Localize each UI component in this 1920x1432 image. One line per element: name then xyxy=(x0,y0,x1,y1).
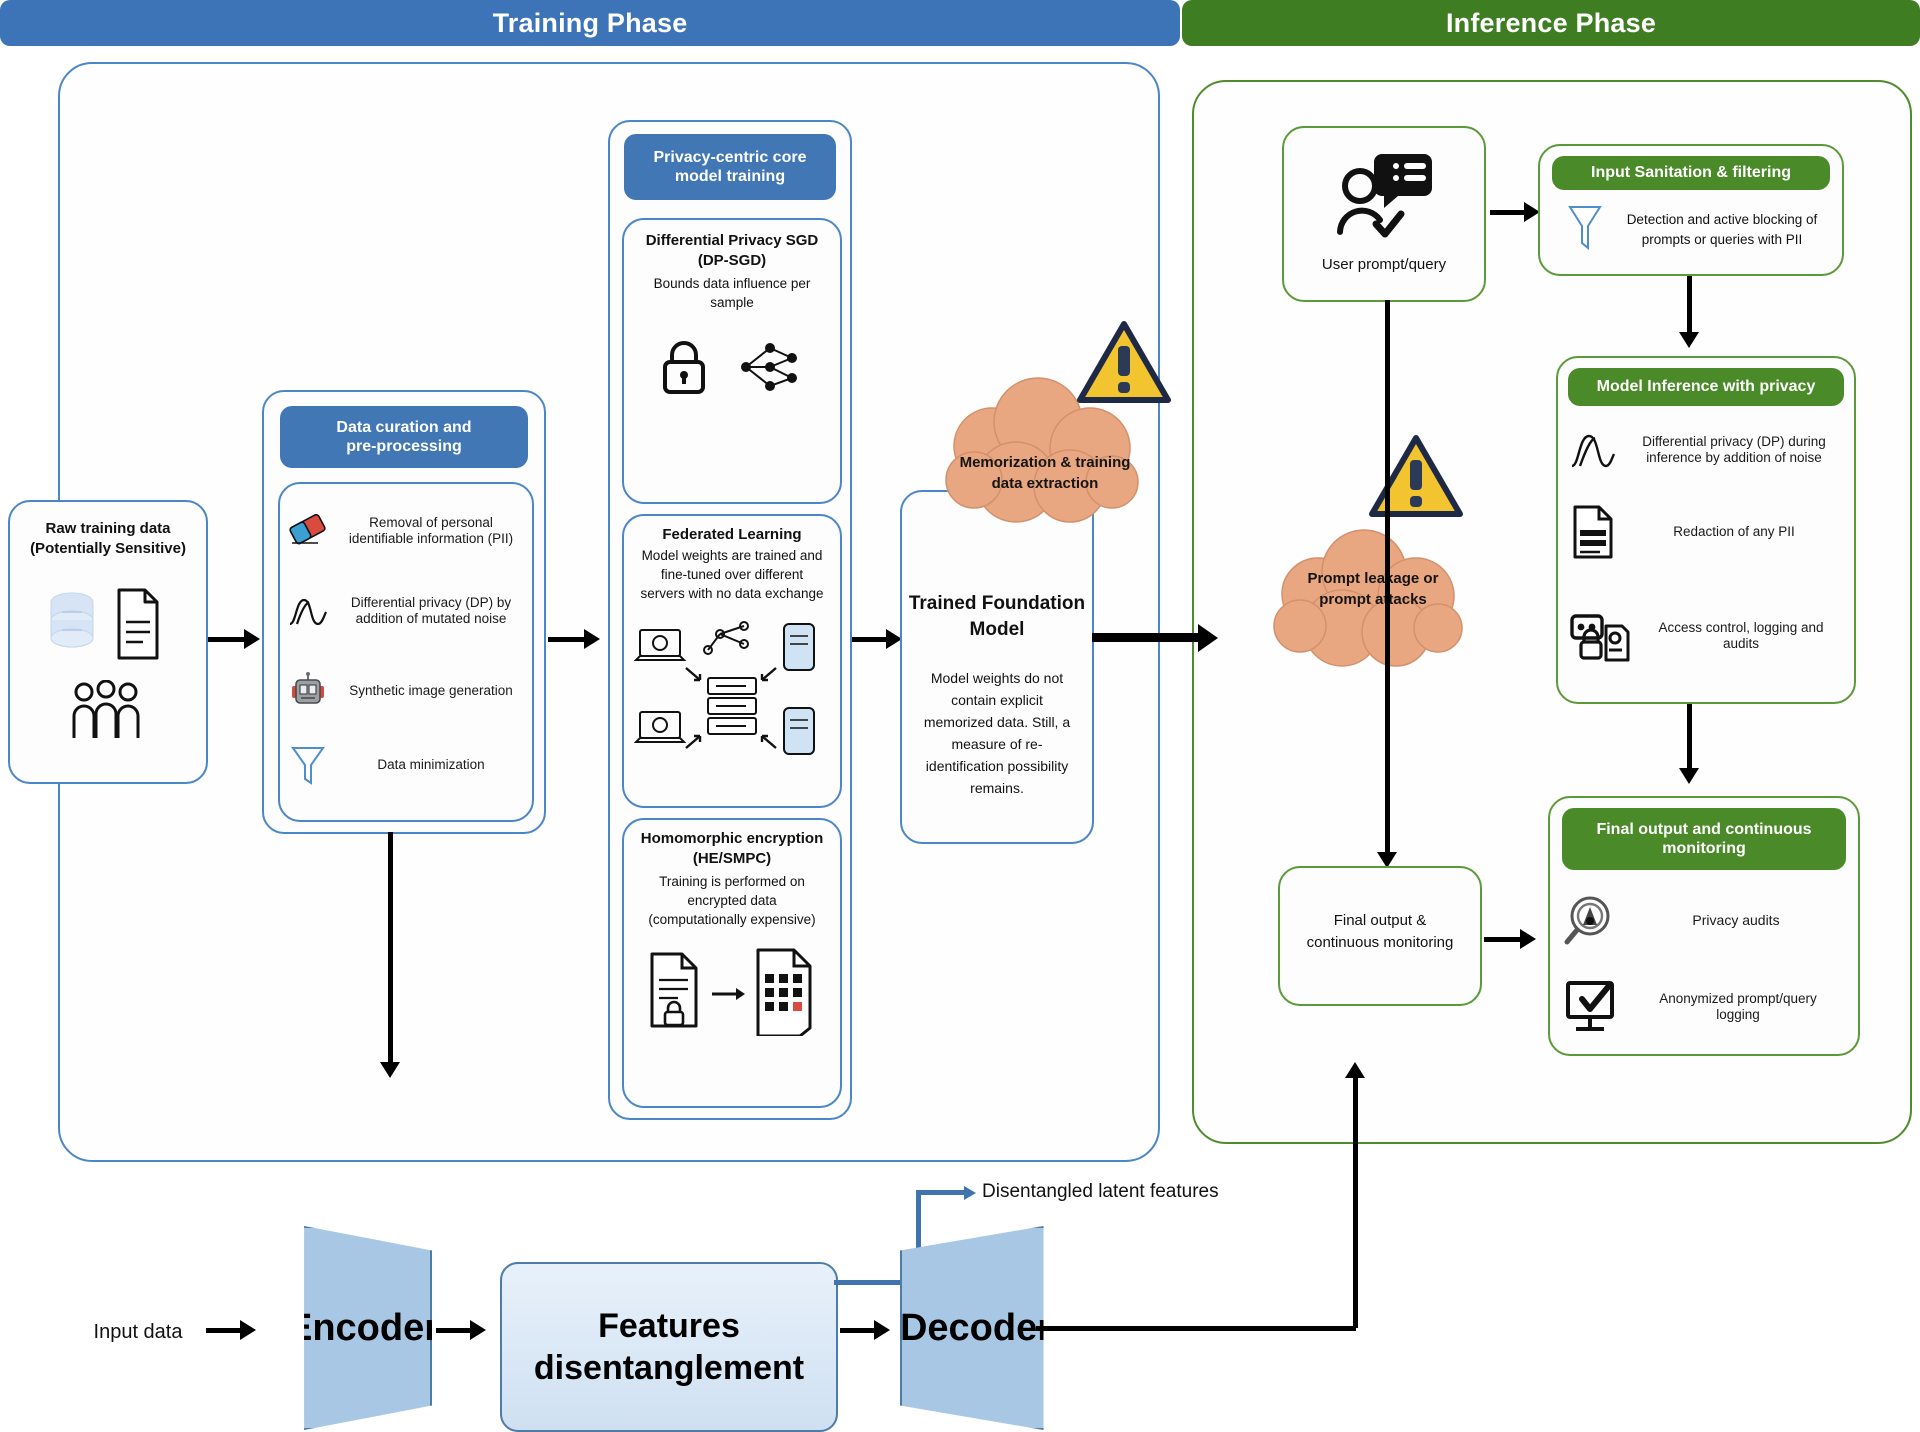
arrow-rawdata-to-curation-head xyxy=(244,629,260,649)
arrow-prompt-to-final-node xyxy=(1385,300,1390,852)
federated-diagram xyxy=(634,616,830,796)
inference-item-dp-line2: inference by addition of noise xyxy=(1626,450,1842,466)
arrow-encoder-to-features xyxy=(436,1328,470,1333)
arrow-encrypt-icon xyxy=(712,986,746,1007)
data-curation-pill: Data curation and pre-processing xyxy=(280,406,528,468)
final-output-node-line2: continuous monitoring xyxy=(1280,934,1480,952)
raw-data-title-line1: Raw training data xyxy=(10,520,206,538)
homomorphic-desc-line1: Training is performed on xyxy=(624,874,840,890)
final-output-node-card: Final output & continuous monitoring xyxy=(1278,866,1482,1006)
foundation-title-line2: Model xyxy=(902,618,1092,641)
inference-item-redaction-line1: Redaction of any PII xyxy=(1626,524,1842,540)
federated-title: Federated Learning xyxy=(624,526,840,544)
curation-item-minimization-label: Data minimization xyxy=(338,757,524,773)
encoder-block: Encoder xyxy=(268,1226,432,1430)
arrow-encoder-to-features-head xyxy=(470,1320,486,1340)
database-icon xyxy=(48,590,96,667)
dpsgd-title-line1: Differential Privacy SGD xyxy=(624,232,840,250)
final-output-panel-pill: Final output and continuous monitoring xyxy=(1562,808,1846,870)
inference-item-access-control: Access control, logging and audits xyxy=(1570,602,1842,670)
input-sanitation-desc-line1: Detection and active blocking of xyxy=(1614,212,1830,228)
foundation-desc-line4: measure of re- xyxy=(902,736,1092,753)
raw-training-data-card: Raw training data (Potentially Sensitive… xyxy=(8,500,208,784)
input-sanitation-pill: Input Sanitation & filtering xyxy=(1552,156,1830,190)
arrow-curation-to-core-head xyxy=(584,629,600,649)
arrow-decoder-output-head xyxy=(1345,1062,1365,1078)
robot-icon xyxy=(288,671,328,711)
arrow-input-to-encoder-head xyxy=(240,1320,256,1340)
curation-item-minimization: Data minimization xyxy=(288,734,524,796)
neural-network-icon xyxy=(734,338,804,401)
curation-item-dp: Differential privacy (DP) by addition of… xyxy=(288,580,524,642)
decoder-label: Decoder xyxy=(900,1307,1052,1350)
foundation-desc-line2: contain explicit xyxy=(902,692,1092,709)
funnel-icon xyxy=(288,743,328,787)
dpsgd-desc-line1: Bounds data influence per xyxy=(624,276,840,292)
homomorphic-desc-line2: encrypted data xyxy=(624,893,840,909)
arrow-training-to-inference-head xyxy=(1198,624,1218,652)
foundation-desc-line3: memorized data. Still, a xyxy=(902,714,1092,731)
final-output-panel-pill-line1: Final output and continuous xyxy=(1596,820,1811,839)
latent-branch-head xyxy=(964,1186,976,1200)
features-label-line1: Features xyxy=(598,1305,740,1348)
arrow-sanitation-to-inference-head xyxy=(1679,332,1699,348)
core-training-pill-line1: Privacy-centric core xyxy=(654,148,807,167)
core-training-card: Privacy-centric core model training Diff… xyxy=(608,120,852,1120)
training-phase-header: Training Phase xyxy=(0,0,1180,46)
eraser-icon xyxy=(288,514,328,548)
inference-item-redaction: Redaction of any PII xyxy=(1570,498,1842,566)
foundation-desc-line1: Model weights do not xyxy=(902,670,1092,687)
homomorphic-desc-line3: (computationally expensive) xyxy=(624,912,840,928)
monitor-check-icon xyxy=(1564,979,1622,1035)
dpsgd-desc-line2: sample xyxy=(624,295,840,311)
user-query-icon xyxy=(1334,148,1434,249)
arrow-inference-to-final-panel xyxy=(1687,704,1692,768)
prompt-leakage-line2: prompt attacks xyxy=(1258,591,1488,609)
foundation-desc-line5: identification possibility xyxy=(902,758,1092,775)
final-output-panel-card: Final output and continuous monitoring P… xyxy=(1548,796,1860,1056)
inference-phase-title: Inference Phase xyxy=(1446,8,1656,39)
lock-icon xyxy=(658,338,710,401)
latent-features-label: Disentangled latent features xyxy=(982,1180,1302,1203)
data-curation-pill-line2: pre-processing xyxy=(346,437,462,456)
final-item-logging-line1: Anonymized prompt/query xyxy=(1632,991,1844,1007)
warning-triangle-icon xyxy=(1368,432,1464,527)
arrow-training-to-inference xyxy=(1092,633,1198,642)
redacted-document-icon xyxy=(1570,504,1616,560)
input-data-label: Input data xyxy=(78,1320,198,1344)
prompt-leakage-cloud: Prompt leakage or prompt attacks xyxy=(1258,528,1488,678)
core-training-pill-line2: model training xyxy=(675,167,785,186)
arrow-rawdata-to-curation xyxy=(208,637,244,642)
final-item-privacy-audits: Privacy audits xyxy=(1564,890,1844,952)
core-training-pill: Privacy-centric core model training xyxy=(624,134,836,200)
user-prompt-card: User prompt/query xyxy=(1282,126,1486,302)
arrow-features-to-decoder xyxy=(840,1328,874,1333)
raw-data-title-line2: (Potentially Sensitive) xyxy=(10,540,206,558)
final-item-audits-line1: Privacy audits xyxy=(1628,912,1844,929)
features-label-line2: disentanglement xyxy=(534,1347,804,1390)
inference-phase-header: Inference Phase xyxy=(1182,0,1920,46)
final-item-anonymized-logging: Anonymized prompt/query logging xyxy=(1564,974,1844,1040)
warning-triangle-icon xyxy=(1076,318,1172,413)
arrow-finalnode-to-panel-head xyxy=(1520,929,1536,949)
arrow-decoder-output-vertical xyxy=(1353,1078,1358,1328)
funnel-icon xyxy=(1566,202,1604,259)
memorization-risk-line1: Memorization & training xyxy=(930,454,1160,472)
arrow-training-to-encoder xyxy=(388,832,393,1062)
encrypted-document-icon xyxy=(752,946,818,1041)
federated-learning-card: Federated Learning Model weights are tra… xyxy=(622,514,842,808)
document-icon xyxy=(115,588,161,665)
final-output-panel-pill-line2: monitoring xyxy=(1662,839,1746,858)
input-sanitation-desc-line2: prompts or queries with PII xyxy=(1614,232,1830,248)
arrow-sanitation-to-inference xyxy=(1687,276,1692,332)
arrow-core-to-foundation xyxy=(852,637,886,642)
latent-branch-horizontal-out xyxy=(916,1190,966,1195)
curation-item-pii-label: Removal of personal identifiable informa… xyxy=(338,515,524,548)
inference-item-access-line2: audits xyxy=(1640,636,1842,652)
training-phase-title: Training Phase xyxy=(493,8,688,39)
final-item-logging-line2: logging xyxy=(1632,1007,1844,1023)
access-control-icon xyxy=(1570,608,1630,664)
foundation-desc-line6: remains. xyxy=(902,780,1092,797)
arrow-inference-to-final-panel-head xyxy=(1679,768,1699,784)
arrow-features-to-decoder-head xyxy=(874,1320,890,1340)
federated-desc-line1: Model weights are trained and xyxy=(624,548,840,564)
noise-curve-icon xyxy=(1570,430,1616,470)
homomorphic-title-line2: (HE/SMPC) xyxy=(624,850,840,868)
noise-curve-icon xyxy=(288,594,328,628)
model-inference-card: Model Inference with privacy Differentia… xyxy=(1556,356,1856,704)
homomorphic-card: Homomorphic encryption (HE/SMPC) Trainin… xyxy=(622,818,842,1108)
arrow-curation-to-core xyxy=(548,637,584,642)
arrow-input-to-encoder xyxy=(206,1328,240,1333)
curation-item-synthetic-label: Synthetic image generation xyxy=(338,683,524,699)
data-curation-pill-line1: Data curation and xyxy=(336,418,471,437)
input-sanitation-pill-label: Input Sanitation & filtering xyxy=(1591,163,1791,182)
curation-item-pii: Removal of personal identifiable informa… xyxy=(288,500,524,562)
inference-item-dp: Differential privacy (DP) during inferen… xyxy=(1570,420,1842,480)
curation-item-synthetic: Synthetic image generation xyxy=(288,662,524,720)
foundation-title-line1: Trained Foundation xyxy=(902,592,1092,615)
inference-item-access-line1: Access control, logging and xyxy=(1640,620,1842,636)
arrow-training-to-encoder-head xyxy=(380,1062,400,1078)
dpsgd-title-line2: (DP-SGD) xyxy=(624,252,840,270)
curation-item-dp-label: Differential privacy (DP) by addition of… xyxy=(338,595,524,628)
dpsgd-card: Differential Privacy SGD (DP-SGD) Bounds… xyxy=(622,218,842,504)
model-inference-pill: Model Inference with privacy xyxy=(1568,368,1844,406)
features-disentanglement-block: Features disentanglement xyxy=(500,1262,838,1432)
federated-desc-line3: servers with no data exchange xyxy=(624,586,840,602)
memorization-risk-line2: data extraction xyxy=(930,475,1160,493)
encoder-label: Encoder xyxy=(287,1307,439,1350)
arrow-prompt-to-sanitation xyxy=(1490,210,1524,215)
people-icon xyxy=(68,680,144,747)
inference-item-dp-line1: Differential privacy (DP) during xyxy=(1626,434,1842,450)
document-lock-icon xyxy=(646,950,704,1035)
arrow-decoder-output-horizontal xyxy=(1036,1326,1356,1331)
user-prompt-label: User prompt/query xyxy=(1284,256,1484,274)
input-sanitation-card: Input Sanitation & filtering Detection a… xyxy=(1538,144,1844,276)
prompt-leakage-line1: Prompt leakage or xyxy=(1258,570,1488,588)
model-inference-pill-label: Model Inference with privacy xyxy=(1597,377,1816,396)
trained-foundation-model-card: Trained Foundation Model Model weights d… xyxy=(900,490,1094,844)
final-output-node-line1: Final output & xyxy=(1280,912,1480,930)
data-curation-items-box: Removal of personal identifiable informa… xyxy=(278,482,534,822)
federated-desc-line2: fine-tuned over different xyxy=(624,567,840,583)
magnifier-audit-icon xyxy=(1564,894,1618,948)
arrow-finalnode-to-panel xyxy=(1484,937,1520,942)
homomorphic-title-line1: Homomorphic encryption xyxy=(624,830,840,848)
data-curation-card: Data curation and pre-processing Removal… xyxy=(262,390,546,834)
